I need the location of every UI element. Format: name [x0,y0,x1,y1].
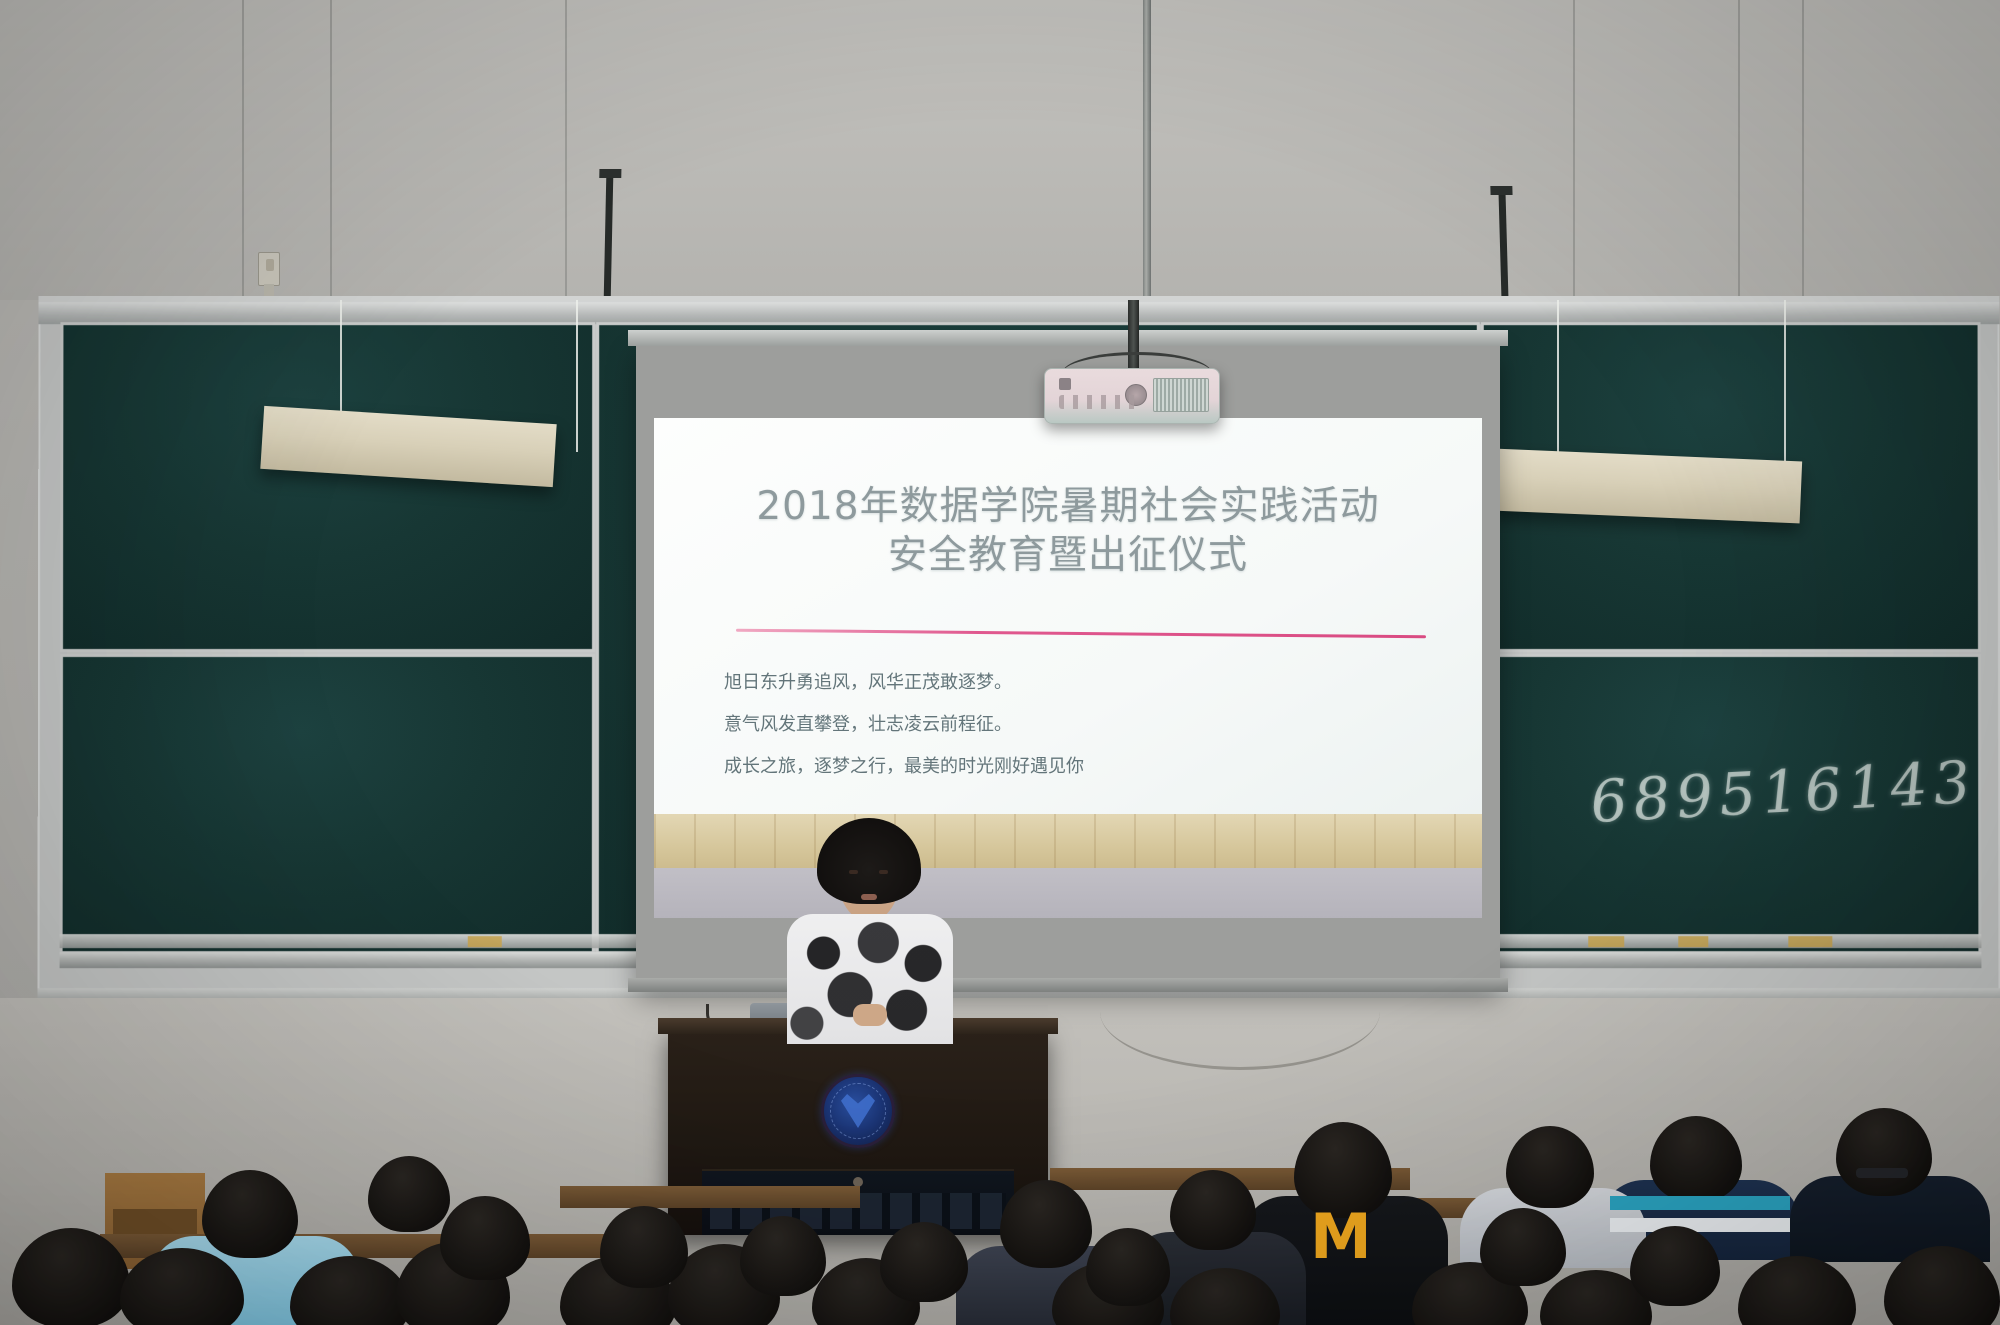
slide-body-line-2: 意气风发直攀登，壮志凌云前程征。 [724,704,1364,746]
university-emblem-icon [821,1074,895,1148]
screen-bottom-bar [628,978,1508,992]
wall-seam [565,0,567,300]
wall-seam [1738,0,1740,300]
projector-controls[interactable] [1059,395,1139,409]
tshirt-logo: M [1310,1212,1374,1266]
wall-seam [1573,0,1575,300]
speaker-eye [849,870,858,874]
ceiling-projector [1044,368,1220,424]
speaker-hand [853,1004,887,1026]
slide-body-line-1: 旭日东升勇追风，风华正茂敢逐梦。 [724,662,1364,704]
slide-body-text: 旭日东升勇追风，风华正茂敢逐梦。 意气风发直攀登，壮志凌云前程征。 成长之旅，逐… [724,662,1364,788]
slide-divider-rule [736,629,1426,639]
speaker-at-podium [775,818,965,1044]
speaker-hair [817,818,921,904]
polo-stripe [1610,1218,1790,1232]
upper-wall [0,0,2000,300]
wall-outlet[interactable] [258,252,280,286]
lecture-hall-photo: 689516143 2018年数据学院暑期社会实践活动 安全教育暨出征仪式 旭日… [0,0,2000,1325]
wooden-bench [560,1186,860,1208]
speaker-eye [879,870,888,874]
hanging-wood-baffle-right [1492,449,1802,524]
tape-marker [1788,936,1832,947]
baffle-wire [576,300,578,452]
tape-marker [1678,936,1708,947]
slide-title-line-2: 安全教育暨出征仪式 [654,531,1482,580]
speaker-mouth [861,894,877,900]
tape-marker [468,936,502,947]
projector-port [1059,378,1071,390]
baffle-wire [1557,300,1559,470]
screen-housing [628,330,1508,346]
projection-screen: 2018年数据学院暑期社会实践活动 安全教育暨出征仪式 旭日东升勇追风，风华正茂… [636,346,1500,988]
slide-body-line-3: 成长之旅，逐梦之行，最美的时光刚好遇见你 [724,746,1364,788]
wall-seam [242,0,244,300]
blackboard-top-rail [38,302,1999,324]
tape-marker [1588,936,1624,947]
polo-stripe [1610,1196,1790,1210]
blackboard-panel [60,322,595,652]
wall-seam [1802,0,1804,300]
blackboard-panel [60,654,595,954]
slide-title: 2018年数据学院暑期社会实践活动 安全教育暨出征仪式 [654,482,1482,580]
glasses-icon [1856,1168,1908,1178]
slide-title-line-1: 2018年数据学院暑期社会实践活动 [654,482,1482,531]
wall-seam [330,0,332,300]
projector-vent [1153,378,1209,412]
projector-mount-pole [1143,0,1151,300]
